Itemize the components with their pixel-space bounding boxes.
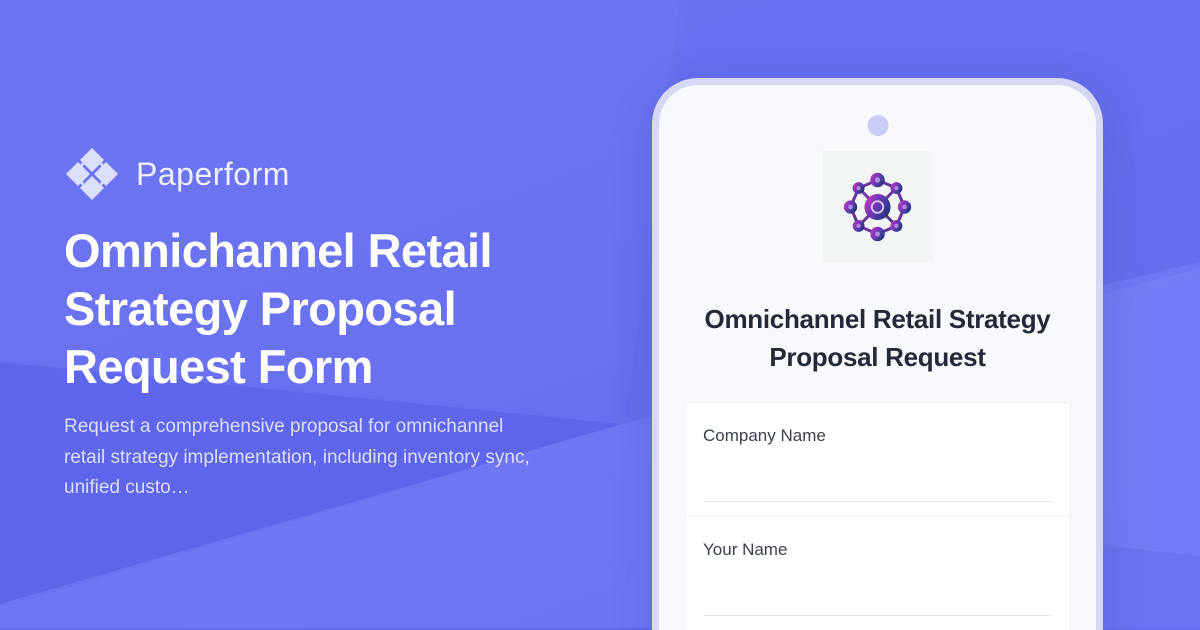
hero-content: Paperform Omnichannel Retail Strategy Pr…	[64, 0, 624, 630]
form-field-company-name[interactable]: Company Name	[684, 402, 1071, 516]
field-underline	[703, 615, 1052, 616]
form-field-list: Company Name Your Name	[684, 402, 1071, 630]
network-nodes-icon	[833, 162, 923, 252]
paperform-diamond-logo-icon	[64, 146, 120, 202]
page-description: Request a comprehensive proposal for omn…	[64, 412, 534, 504]
camera-dot-icon	[867, 115, 888, 136]
phone-mockup: Omnichannel Retail Strategy Proposal Req…	[652, 78, 1103, 630]
form-icon-tile	[822, 151, 933, 262]
form-title: Omnichannel Retail Strategy Proposal Req…	[681, 300, 1074, 376]
field-label: Your Name	[703, 539, 1052, 561]
field-label: Company Name	[703, 425, 1052, 447]
brand-lockup: Paperform	[64, 146, 290, 202]
form-field-your-name[interactable]: Your Name	[684, 516, 1071, 630]
page-title: Omnichannel Retail Strategy Proposal Req…	[64, 222, 584, 396]
brand-name: Paperform	[136, 158, 290, 190]
field-underline	[703, 501, 1052, 502]
share-preview-card: Paperform Omnichannel Retail Strategy Pr…	[0, 0, 1200, 630]
